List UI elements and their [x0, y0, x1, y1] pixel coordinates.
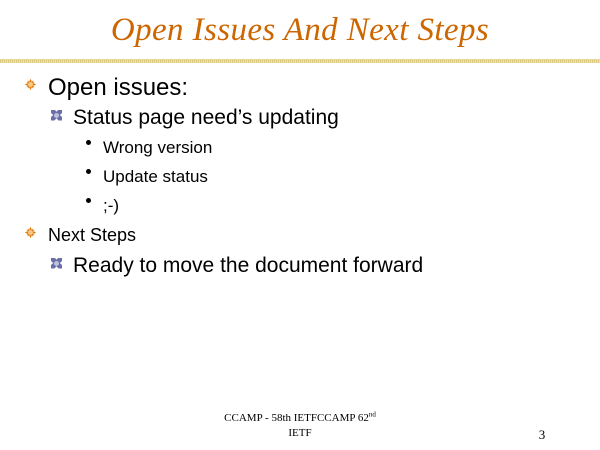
list-item: Open issues: — [0, 72, 600, 103]
page-title: Open Issues And Next Steps — [0, 10, 600, 50]
list-item: Update status — [0, 162, 600, 191]
diamond-blue-bullet-icon — [51, 252, 67, 273]
list-item-label: Update status — [103, 162, 208, 191]
slide-canvas: Open Issues And Next Steps Open issues: … — [0, 0, 600, 450]
list-item-label: Next Steps — [48, 223, 136, 248]
footer-ordinal-suffix: nd — [369, 410, 376, 418]
page-number: 3 — [520, 427, 564, 443]
list-item-label: Wrong version — [103, 133, 212, 162]
list-item-label: Ready to move the document forward — [73, 252, 423, 280]
list-item: Ready to move the document forward — [0, 252, 600, 280]
diamond-orange-bullet-icon — [25, 223, 42, 241]
slide-body: Open issues: Status page need’s updating… — [0, 72, 600, 281]
list-item: ;-) — [0, 191, 600, 220]
list-item-label: Status page need’s updating — [73, 104, 339, 132]
title-divider — [0, 59, 600, 63]
round-bullet-icon — [86, 133, 100, 150]
round-bullet-icon — [86, 162, 100, 179]
footer-line-1-main: CCAMP - 58th IETFCCAMP 62 — [224, 412, 369, 424]
slide-footer: CCAMP - 58th IETFCCAMP 62nd IETF — [0, 411, 600, 441]
list-item-label: ;-) — [103, 191, 119, 220]
list-item: Next Steps — [0, 223, 600, 248]
list-item: Status page need’s updating — [0, 104, 600, 132]
footer-line-1: CCAMP - 58th IETFCCAMP 62nd — [0, 411, 600, 426]
list-item: Wrong version — [0, 133, 600, 162]
footer-line-2: IETF — [0, 426, 600, 441]
diamond-blue-bullet-icon — [51, 104, 67, 125]
list-item-label: Open issues: — [48, 72, 188, 103]
diamond-orange-bullet-icon — [25, 72, 42, 96]
round-bullet-icon — [86, 191, 100, 208]
